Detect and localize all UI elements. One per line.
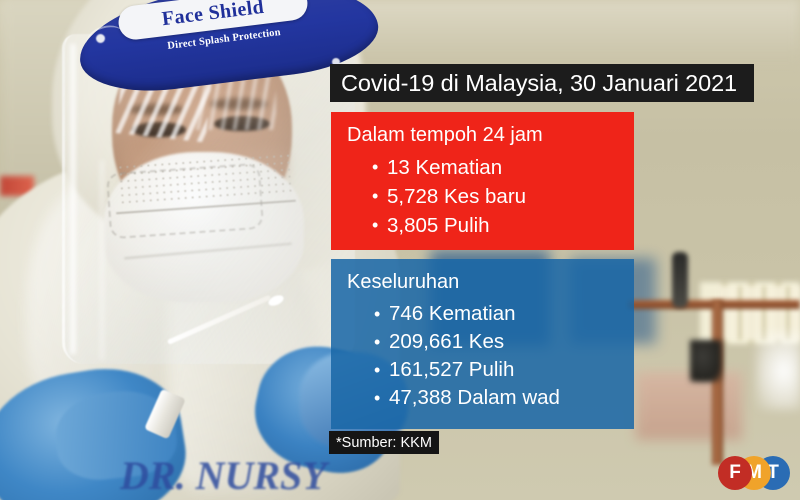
list-item: 5,728 Kes baru: [387, 182, 634, 211]
list-item: 746 Kematian: [389, 300, 634, 328]
list-item: 3,805 Pulih: [387, 211, 634, 240]
wall-fixture-2: [690, 340, 722, 382]
daily-stats-heading: Dalam tempoh 24 jam: [347, 124, 634, 147]
support-post: [712, 300, 723, 465]
cumulative-stats-panel: Keseluruhan 746 Kematian 209,661 Kes 161…: [331, 259, 634, 429]
pink-wall-blur: [636, 372, 742, 440]
source-band: *Sumber: KKM: [329, 431, 439, 454]
gown-handwriting: DR. NURSY: [120, 452, 330, 500]
visor-highlight-2: [100, 160, 104, 360]
title-band: Covid-19 di Malaysia, 30 Januari 2021: [330, 64, 754, 102]
source-label: *Sumber: KKM: [336, 435, 432, 451]
window-glow: [756, 332, 800, 410]
wall-fixture: [672, 252, 688, 308]
covid-infographic: Face Shield Direct Splash Protection DR.…: [0, 0, 800, 500]
daily-stats-list: 13 Kematian 5,728 Kes baru 3,805 Pulih: [347, 153, 634, 240]
cumulative-stats-list: 746 Kematian 209,661 Kes 161,527 Pulih 4…: [347, 300, 634, 412]
cumulative-stats-heading: Keseluruhan: [347, 271, 634, 294]
list-item: 161,527 Pulih: [389, 356, 634, 384]
logo-letter-f: F: [718, 456, 752, 490]
fmt-logo: T M F: [718, 456, 790, 490]
page-title: Covid-19 di Malaysia, 30 Januari 2021: [341, 70, 737, 97]
list-item: 13 Kematian: [387, 153, 634, 182]
list-item: 209,661 Kes: [389, 328, 634, 356]
visor-highlight: [70, 44, 76, 354]
list-item: 47,388 Dalam wad: [389, 384, 634, 412]
daily-stats-panel: Dalam tempoh 24 jam 13 Kematian 5,728 Ke…: [331, 112, 634, 250]
